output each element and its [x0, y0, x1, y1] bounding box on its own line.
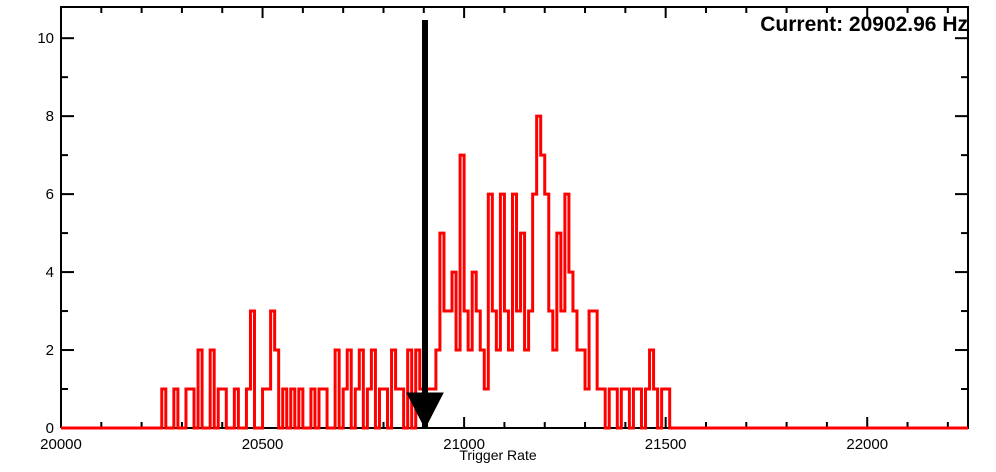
svg-text:0: 0 [46, 420, 54, 437]
svg-text:6: 6 [46, 186, 54, 203]
svg-text:2: 2 [46, 342, 54, 359]
svg-text:8: 8 [46, 108, 54, 125]
svg-text:4: 4 [46, 264, 54, 281]
y-axis-tick-labels: 0246810 [37, 30, 54, 437]
histogram-canvas: 2000020500210002150022000 0246810 Curren… [0, 0, 996, 472]
svg-text:10: 10 [37, 30, 54, 47]
histogram-series [61, 116, 968, 428]
plot-area: 2000020500210002150022000 0246810 [0, 0, 996, 472]
current-rate-readout: Current: 20902.96 Hz [760, 13, 968, 37]
x-axis-title: Trigger Rate [0, 447, 996, 463]
